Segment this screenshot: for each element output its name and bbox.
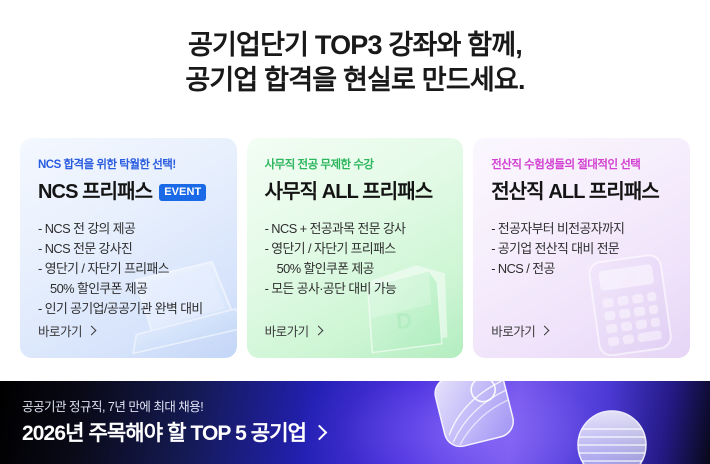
chevron-right-icon bbox=[312, 425, 328, 441]
card-cta-link[interactable]: 바로가기 bbox=[491, 321, 548, 340]
banner-eyebrow: 공공기관 정규직, 7년 만에 최대 채용! bbox=[22, 399, 325, 415]
banner-text-block: 공공기관 정규직, 7년 만에 최대 채용! 2026년 주목해야 할 TOP … bbox=[22, 399, 325, 447]
headline-line-2: 공기업 합격을 현실로 만드세요. bbox=[0, 63, 710, 98]
list-item: - 전공자부터 비전공자까지 bbox=[491, 219, 672, 239]
card-feature-list: - NCS + 전공과목 전문 강사 - 영단기 / 자단기 프리패스 50% … bbox=[265, 219, 446, 299]
course-card-ncs-prepass[interactable]: NCS 합격을 위한 탁월한 선택! NCS 프리패스 EVENT - NCS … bbox=[20, 138, 237, 358]
list-item: - NCS 전문 강사진 bbox=[38, 239, 219, 259]
card-feature-list: - NCS 전 강의 제공 - NCS 전문 강사진 - 영단기 / 자단기 프… bbox=[38, 219, 219, 319]
card-title-row: 전산직 ALL 프리패스 bbox=[491, 179, 672, 205]
list-item: - 영단기 / 자단기 프리패스 bbox=[265, 239, 446, 259]
card-cta-label: 바로가기 bbox=[38, 321, 82, 340]
chevron-right-icon bbox=[540, 325, 550, 335]
list-item: 50% 할인쿠폰 제공 bbox=[38, 279, 219, 299]
list-item: - 모든 공사·공단 대비 가능 bbox=[265, 279, 446, 299]
banner-glow bbox=[300, 381, 640, 464]
list-item: - 공기업 전산직 대비 전문 bbox=[491, 239, 672, 259]
banner-title: 2026년 주목해야 할 TOP 5 공기업 bbox=[22, 420, 306, 447]
card-eyebrow: NCS 합격을 위한 탁월한 선택! bbox=[38, 158, 219, 172]
card-title: NCS 프리패스 bbox=[38, 179, 152, 205]
headline-line-1: 공기업단기 TOP3 강좌와 함께, bbox=[0, 28, 710, 63]
bottom-promo-banner[interactable]: 공공기관 정규직, 7년 만에 최대 채용! 2026년 주목해야 할 TOP … bbox=[0, 381, 710, 464]
list-item: - NCS / 전공 bbox=[491, 259, 672, 279]
list-item: - 인기 공기업/공공기관 완벽 대비 bbox=[38, 299, 219, 319]
banner-title-row: 2026년 주목해야 할 TOP 5 공기업 bbox=[22, 420, 325, 447]
list-item: - NCS 전 강의 제공 bbox=[38, 219, 219, 239]
course-card-list: NCS 합격을 위한 탁월한 선택! NCS 프리패스 EVENT - NCS … bbox=[20, 138, 690, 358]
svg-text:D: D bbox=[395, 308, 413, 334]
card-title-row: 사무직 ALL 프리패스 bbox=[265, 179, 446, 205]
chevron-right-icon bbox=[313, 325, 323, 335]
card-title: 전산직 ALL 프리패스 bbox=[491, 179, 659, 205]
promo-banner-page: 공기업단기 TOP3 강좌와 함께, 공기업 합격을 현실로 만드세요. bbox=[0, 0, 710, 464]
card-cta-link[interactable]: 바로가기 bbox=[38, 321, 95, 340]
course-card-office-all-prepass[interactable]: D 사무직 전공 무제한 수강 사무직 ALL 프리패스 - NCS + 전공과… bbox=[247, 138, 464, 358]
card-cta-label: 바로가기 bbox=[491, 321, 535, 340]
card-title: 사무직 ALL 프리패스 bbox=[265, 179, 433, 205]
page-headline: 공기업단기 TOP3 강좌와 함께, 공기업 합격을 현실로 만드세요. bbox=[0, 28, 710, 98]
event-badge: EVENT bbox=[159, 184, 206, 201]
card-feature-list: - 전공자부터 비전공자까지 - 공기업 전산직 대비 전문 - NCS / 전… bbox=[491, 219, 672, 279]
card-cta-label: 바로가기 bbox=[265, 321, 309, 340]
glass-3d-shapes-icon bbox=[400, 381, 710, 464]
list-item: 50% 할인쿠폰 제공 bbox=[265, 259, 446, 279]
card-title-row: NCS 프리패스 EVENT bbox=[38, 179, 219, 205]
list-item: - 영단기 / 자단기 프리패스 bbox=[38, 259, 219, 279]
card-eyebrow: 사무직 전공 무제한 수강 bbox=[265, 158, 446, 172]
card-eyebrow: 전산직 수험생들의 절대적인 선택 bbox=[491, 158, 672, 172]
list-item: - NCS + 전공과목 전문 강사 bbox=[265, 219, 446, 239]
card-cta-link[interactable]: 바로가기 bbox=[265, 321, 322, 340]
chevron-right-icon bbox=[87, 325, 97, 335]
course-card-it-all-prepass[interactable]: 전산직 수험생들의 절대적인 선택 전산직 ALL 프리패스 - 전공자부터 비… bbox=[473, 138, 690, 358]
